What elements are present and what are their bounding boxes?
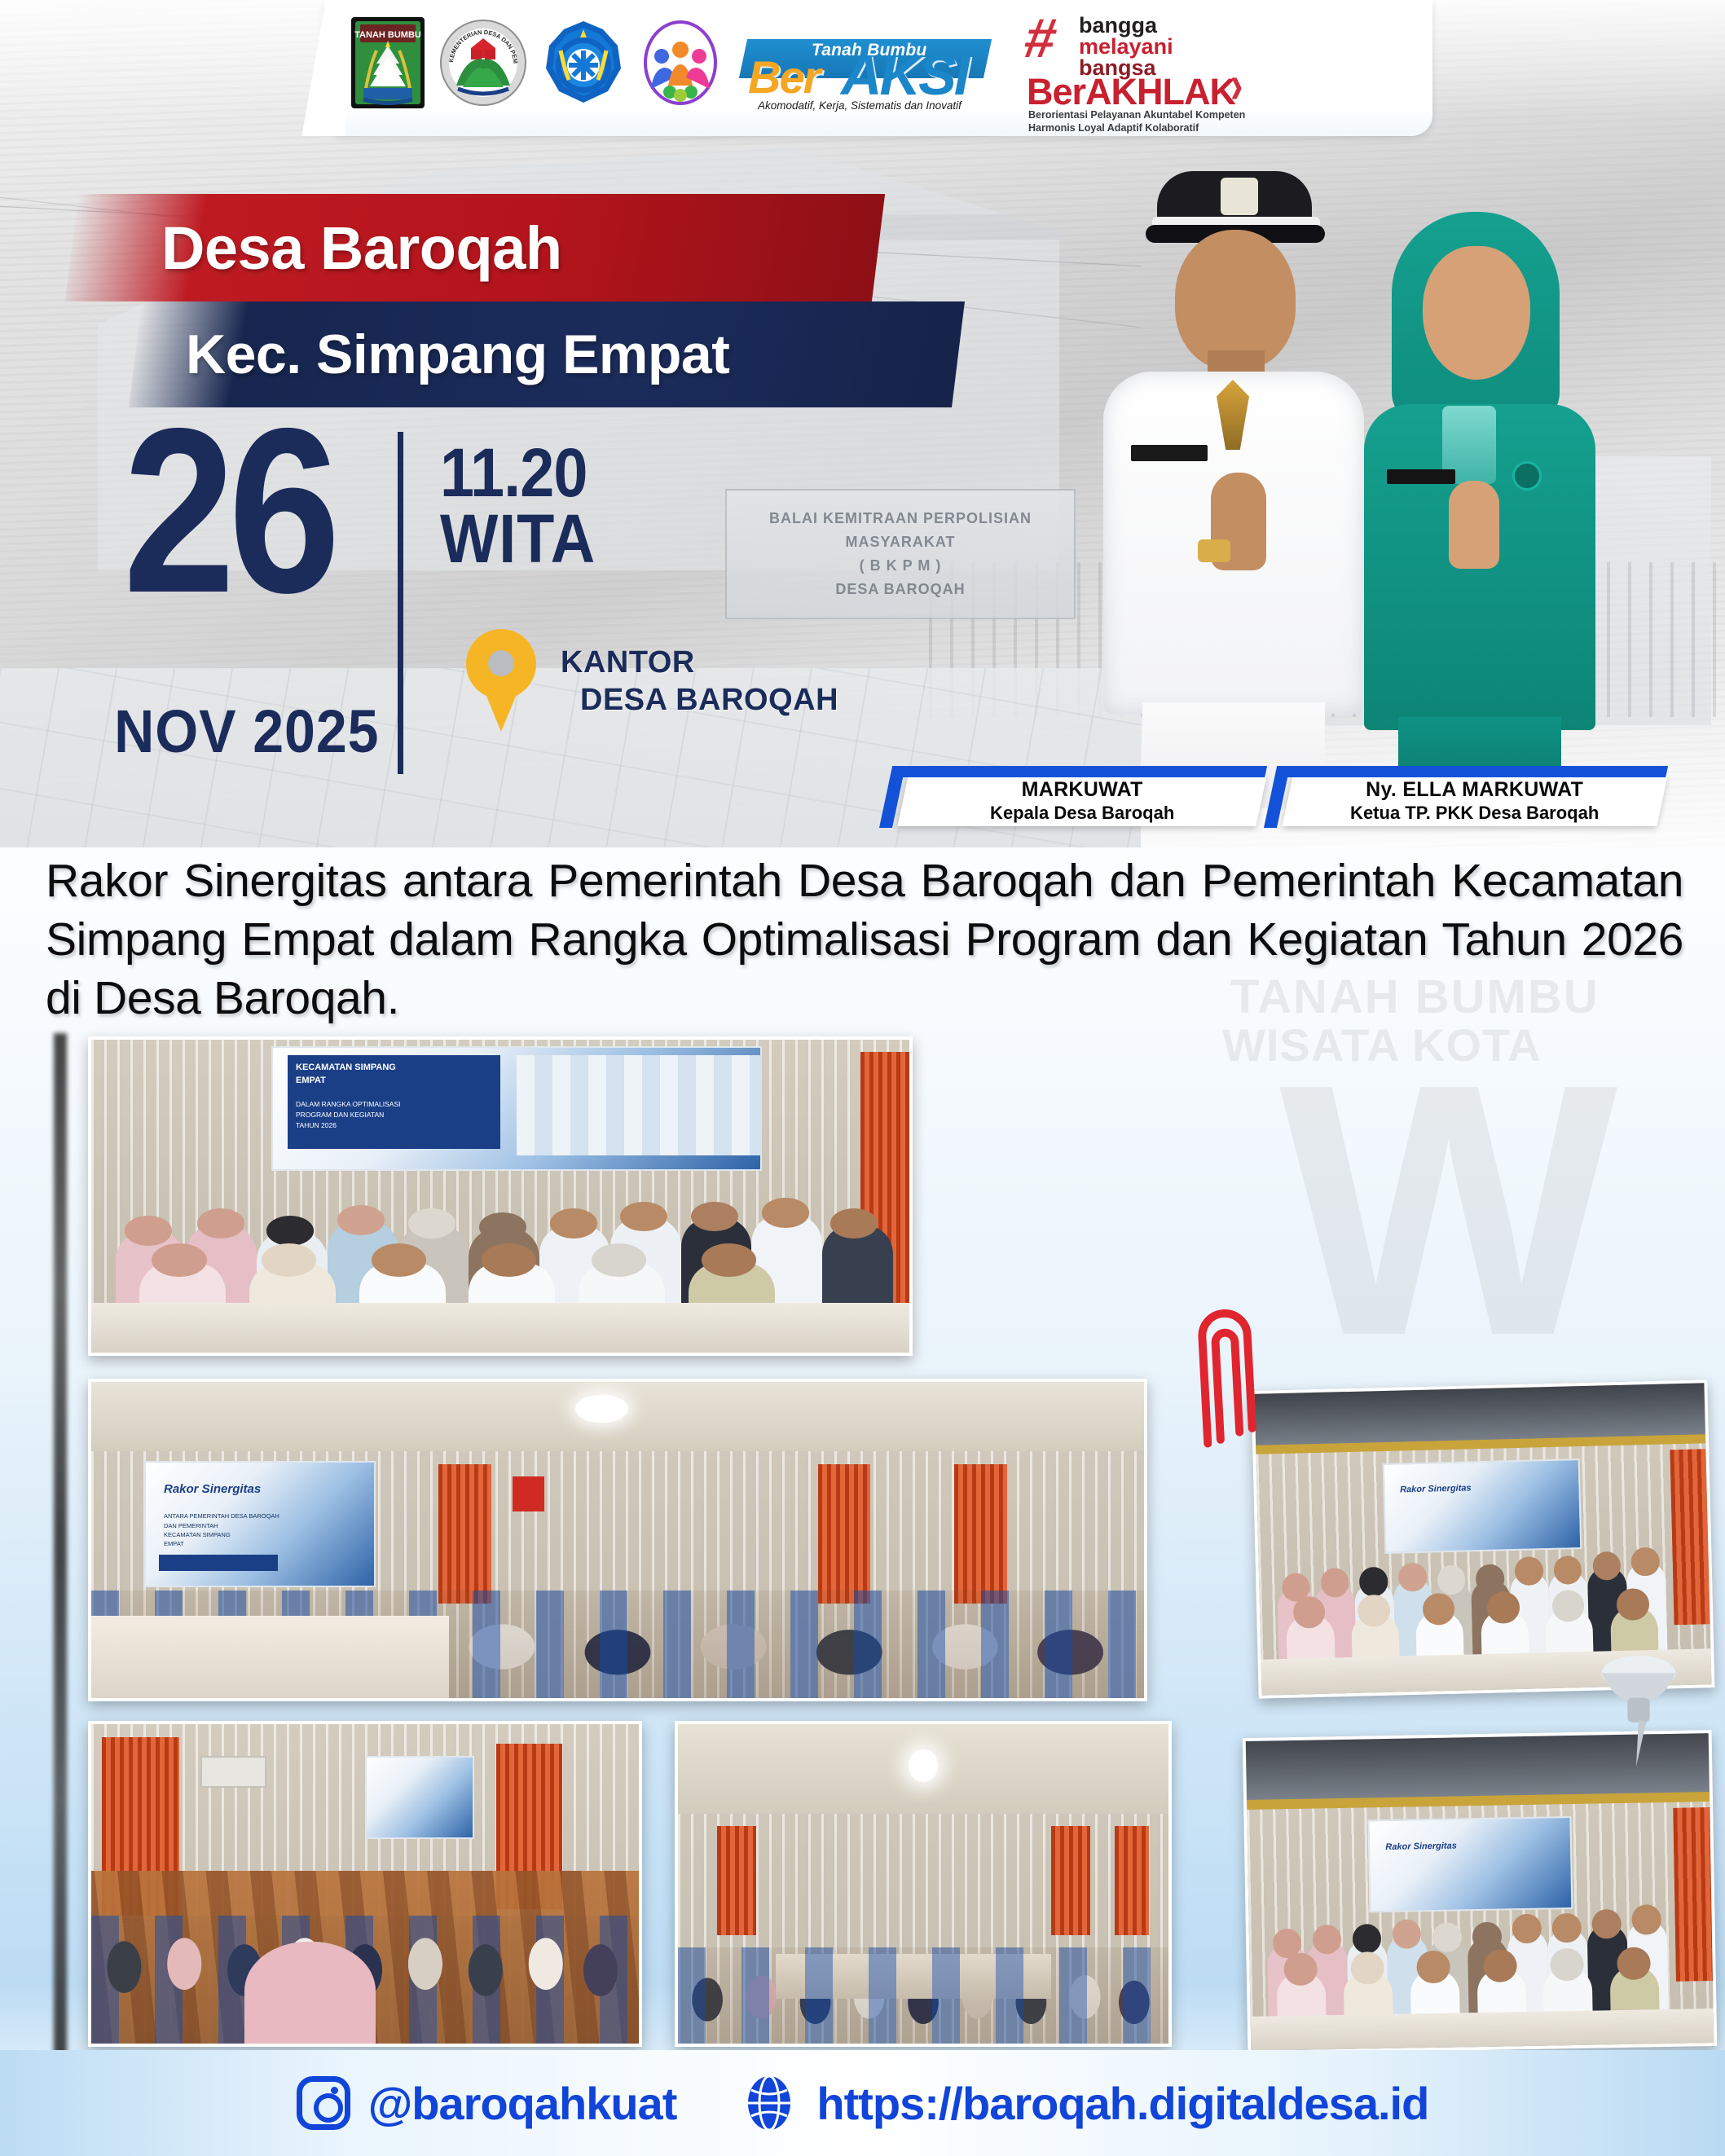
berakhlak-sub1: Berorientasi Pelayanan Akuntabel Kompete…: [1028, 109, 1245, 121]
event-time: 11.20: [440, 440, 596, 506]
venue-line2: DESA BAROQAH: [580, 681, 838, 719]
photo-banner-sub3: KECAMATAN SIMPANG: [164, 1531, 231, 1538]
digital-desa-seal-icon: [639, 17, 722, 108]
hero-bkpm-sign: BALAI KEMITRAAN PERPOLISIAN MASYARAKAT (…: [725, 489, 1076, 619]
website-item[interactable]: https://baroqah.digitaldesa.id: [740, 2074, 1428, 2132]
person-name: Ny. ELLA MARKUWAT: [1350, 778, 1599, 803]
bkpm-line3: DESA BAROQAH: [835, 578, 965, 601]
berakhlak-line1: bangga: [1079, 15, 1157, 37]
pkk-chair-portrait: [1344, 212, 1622, 807]
event-day-number: 26: [123, 420, 333, 603]
bkpm-line2: ( B K P M ): [860, 554, 942, 578]
beraksi-logo: Tanah Bumbu Ber AKSI Akomodatif, Kerja, …: [737, 20, 997, 106]
event-venue: KANTOR DESA BAROQAH: [561, 644, 838, 719]
photo-banner-title: Rakor Sinergitas: [1400, 1484, 1472, 1495]
chevron-right-icon: ›: [1230, 51, 1243, 115]
instagram-icon: [297, 2076, 350, 2130]
event-time-block: 11.20 WITA: [440, 440, 613, 571]
person-name: MARKUWAT: [990, 778, 1174, 803]
watermark-monogram: W: [1279, 1067, 1617, 1354]
photo-banner-line1: KECAMATAN SIMPANG: [296, 1063, 396, 1072]
gallery-photo-audience-left[interactable]: [88, 1721, 642, 2047]
poster-root: BALAI KEMITRAAN PERPOLISIAN MASYARAKAT (…: [0, 0, 1725, 2156]
left-decorative-strip: [54, 1033, 67, 2055]
photo-banner-line4: PROGRAM DAN KEGIATAN: [296, 1111, 384, 1119]
vertical-divider: [398, 432, 403, 774]
name-banner-pkk-chair: Ny. ELLA MARKUWAT Ketua TP. PKK Desa Bar…: [1282, 776, 1667, 826]
gallery-photo-group-formal[interactable]: KECAMATAN SIMPANG EMPAT DALAM RANGKA OPT…: [88, 1036, 913, 1356]
tanah-bumbu-seal-icon: TANAH BUMBU: [349, 15, 427, 111]
beraksi-aksi-text: AKSI: [841, 42, 967, 108]
pushpin-icon: [1595, 1646, 1682, 1768]
photo-banner-title: Rakor Sinergitas: [164, 1482, 261, 1496]
kemendes-pdtt-seal-icon: KEMENTERIAN DESA DAN PEMBANGUNAN DAERAH …: [438, 17, 528, 108]
pemerintah-kabupaten-seal-icon: [539, 18, 627, 108]
village-title-text: Desa Baroqah: [161, 213, 562, 283]
photo-banner-line3: DALAM RANGKA OPTIMALISASI: [296, 1100, 400, 1108]
hashtag-icon: #: [1021, 16, 1080, 64]
map-pin-icon: [466, 629, 536, 733]
berakhlak-wordmark: BerAKHLAK: [1027, 73, 1235, 110]
gallery-photo-group-right-lower[interactable]: Rakor Sinergitas: [1243, 1730, 1718, 2054]
gallery-photo-meeting-wide[interactable]: Rakor Sinergitas ANTARA PEMERINTAH DESA …: [88, 1379, 1147, 1701]
logo-bar: TANAH BUMBU KEMENTERIAN DESA DAN PEMBANG…: [324, 0, 1432, 136]
venue-line1: KANTOR: [561, 645, 695, 680]
berakhlak-line2: melayani: [1079, 36, 1173, 58]
paperclip-icon: [1186, 1302, 1269, 1461]
instagram-handle: @baroqahkuat: [368, 2077, 677, 2130]
instagram-item[interactable]: @baroqahkuat: [297, 2076, 677, 2130]
person-role: Ketua TP. PKK Desa Baroqah: [1350, 803, 1599, 824]
name-banner-village-head: MARKUWAT Kepala Desa Baroqah: [897, 776, 1266, 826]
event-month-year: NOV 2025: [114, 697, 379, 766]
svg-text:TANAH BUMBU: TANAH BUMBU: [354, 30, 421, 40]
bkpm-line1: BALAI KEMITRAAN PERPOLISIAN MASYARAKAT: [727, 507, 1074, 554]
footer-bar: @baroqahkuat https://baroqah.digitaldesa…: [0, 2050, 1725, 2156]
photo-banner-sub4: EMPAT: [164, 1540, 184, 1547]
event-description: Rakor Sinergitas antara Pemerintah Desa …: [46, 852, 1683, 1027]
village-title-banner: Desa Baroqah: [65, 194, 885, 301]
gallery-photo-audience-center[interactable]: [675, 1721, 1172, 2047]
berakhlak-logo: # bangga melayani bangsa BerAKHLAK › Ber…: [1025, 13, 1270, 112]
berakhlak-sub2: Harmonis Loyal Adaptif Kolaboratif: [1028, 122, 1199, 134]
person-role: Kepala Desa Baroqah: [990, 803, 1174, 824]
beraksi-ber-text: Ber: [748, 51, 819, 103]
photo-banner-sub1: ANTARA PEMERINTAH DESA BAROQAH: [164, 1512, 279, 1520]
photo-banner-sub2: DAN PEMERINTAH: [164, 1522, 218, 1529]
district-title-text: Kec. Simpang Empat: [186, 323, 729, 386]
globe-icon: [740, 2074, 799, 2132]
beraksi-tagline: Akomodatif, Kerja, Sistematis dan Inovat…: [758, 99, 962, 112]
photo-banner-line5: TAHUN 2026: [296, 1121, 337, 1129]
event-timezone: WITA: [440, 506, 596, 572]
photo-banner-line2: EMPAT: [296, 1076, 326, 1085]
website-url: https://baroqah.digitaldesa.id: [816, 2077, 1428, 2130]
photo-banner-title: Rakor Sinergitas: [1385, 1841, 1457, 1853]
